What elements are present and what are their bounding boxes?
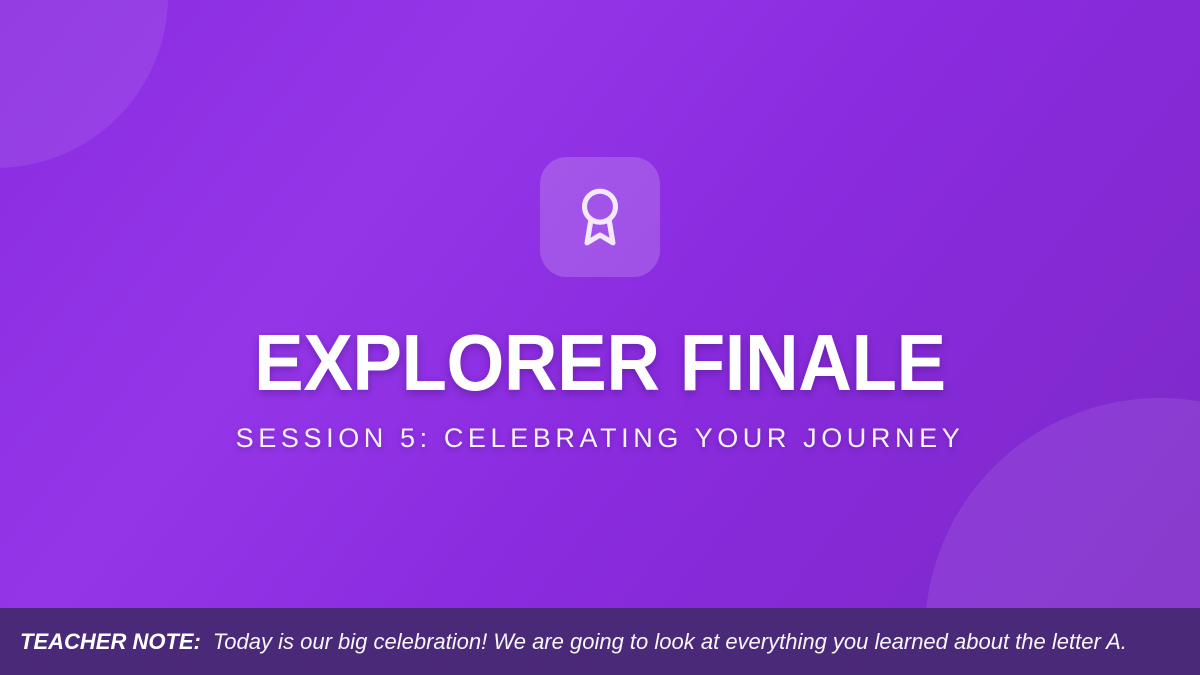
award-icon	[569, 186, 631, 248]
teacher-note-text: Today is our big celebration! We are goi…	[213, 629, 1127, 655]
teacher-note-label: TEACHER NOTE:	[20, 629, 201, 655]
page-title: EXPLORER FINALE	[254, 323, 946, 403]
slide-subtitle: SESSION 5: CELEBRATING YOUR JOURNEY	[236, 425, 965, 452]
teacher-note-bar: TEACHER NOTE: Today is our big celebrati…	[0, 608, 1200, 675]
presentation-slide: EXPLORER FINALE SESSION 5: CELEBRATING Y…	[0, 0, 1200, 675]
slide-content: EXPLORER FINALE SESSION 5: CELEBRATING Y…	[0, 0, 1200, 608]
award-icon-tile	[540, 157, 660, 277]
